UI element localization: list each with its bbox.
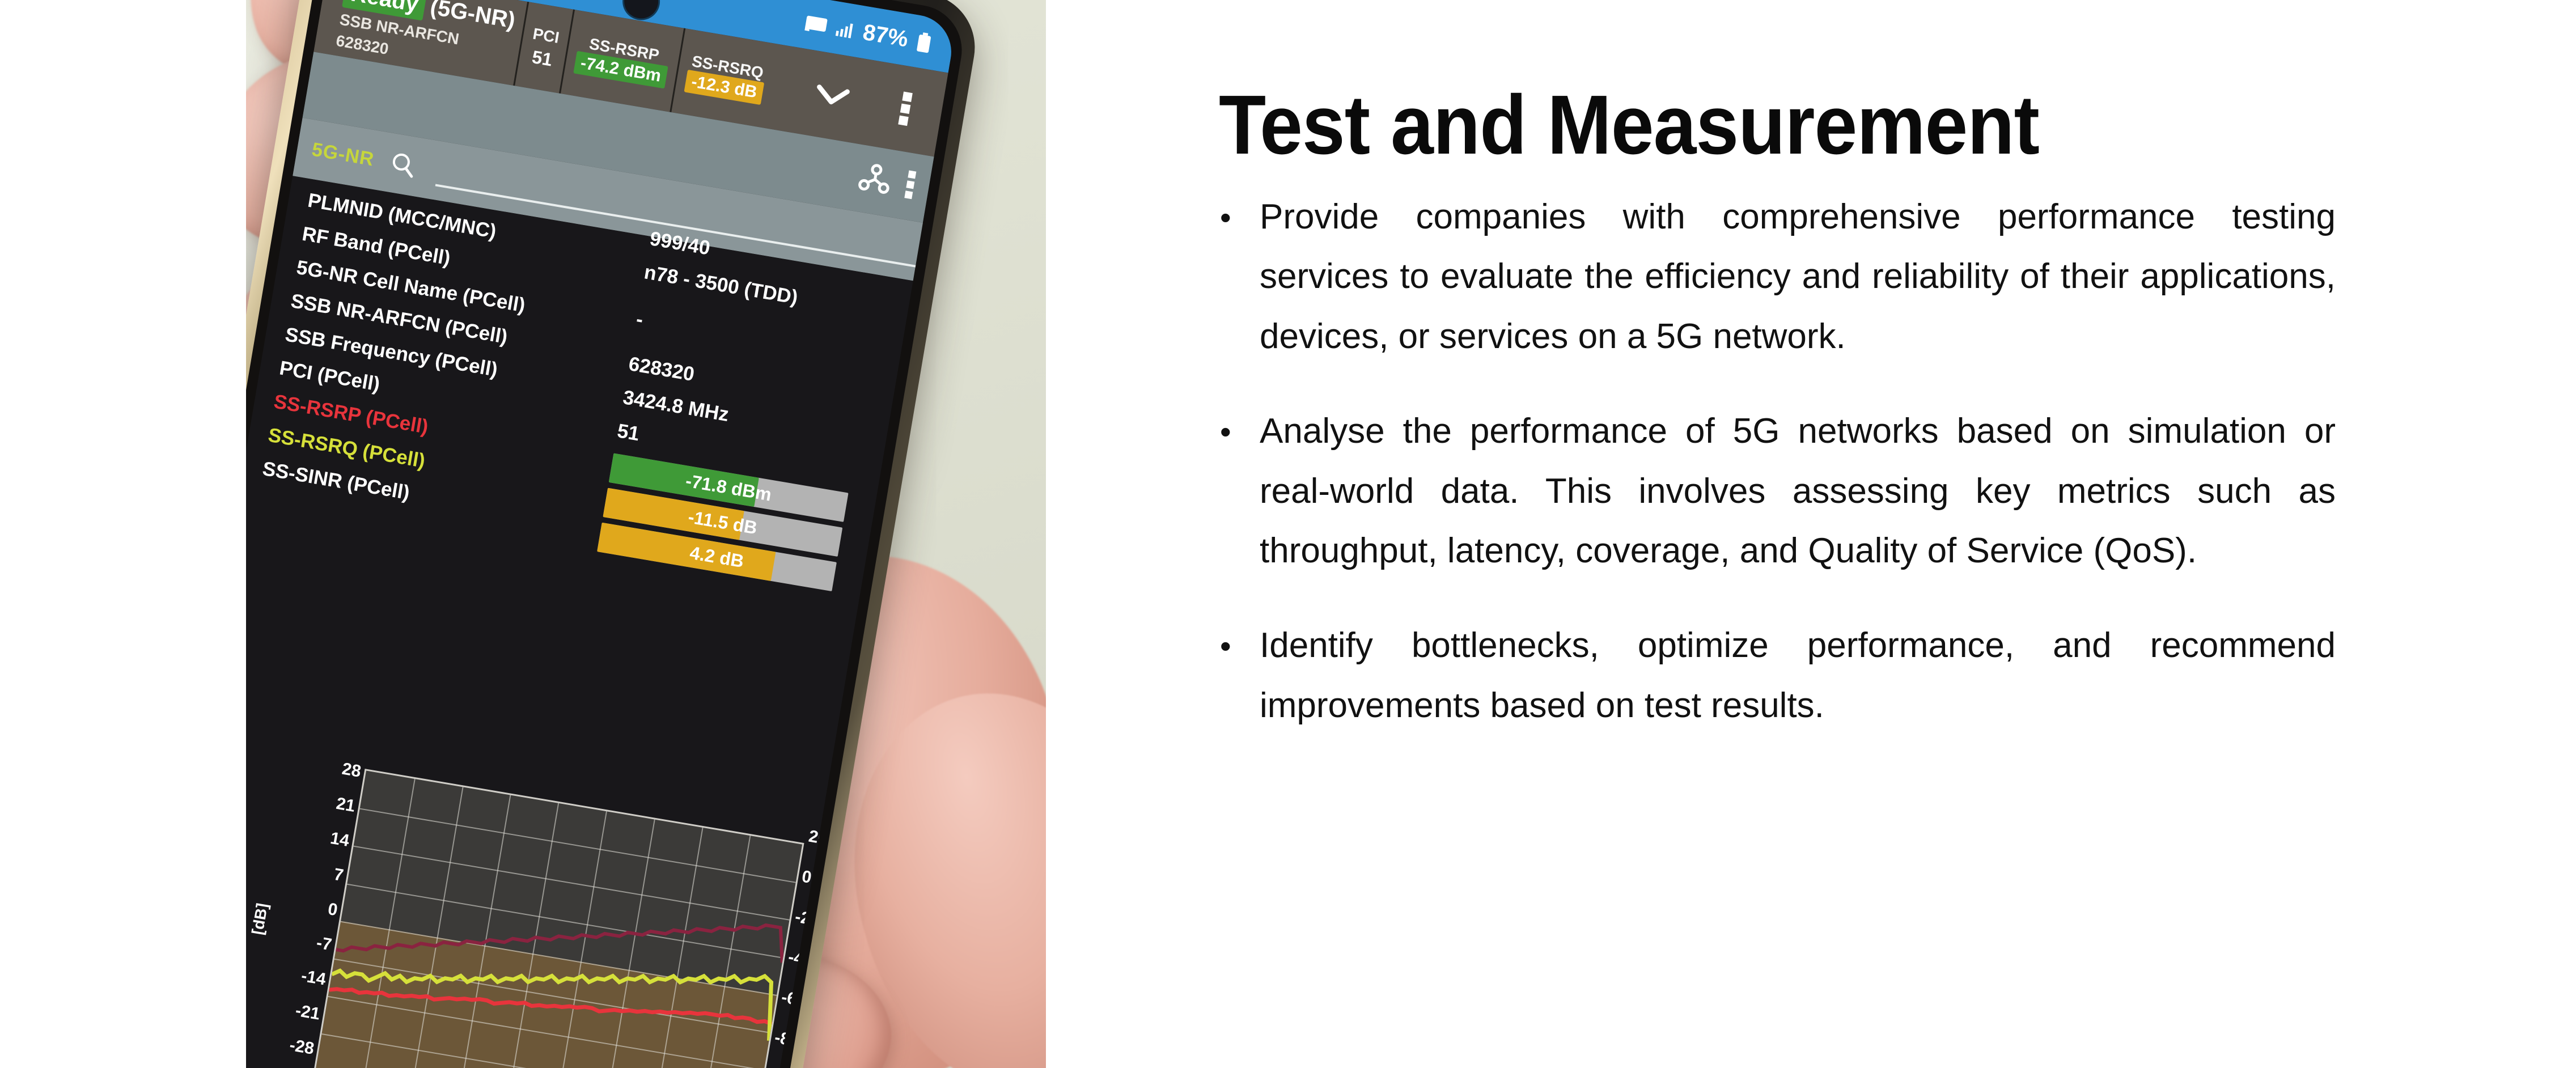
slide-root: 10:33 87%	[0, 0, 2576, 1068]
status-bar-icons: 87%	[803, 10, 934, 56]
chart-ytick: -21	[294, 1001, 321, 1024]
param-value-ssb-arfcn: 628320	[627, 353, 696, 386]
chart-ytick: -7	[315, 933, 333, 955]
param-value-ssb-freq: 3424.8 MHz	[621, 386, 731, 426]
list-item: • Analyse the performance of 5G networks…	[1213, 401, 2336, 580]
chart-ytick: 28	[341, 760, 363, 782]
chart-ytick: 7	[332, 865, 345, 885]
param-value-rf-band: n78 - 3500 (TDD)	[642, 261, 799, 309]
share-button[interactable]	[855, 160, 895, 202]
param-value-cell-name: -	[634, 308, 645, 331]
chart-ytick: -35	[283, 1065, 310, 1068]
more-vertical-icon	[897, 90, 914, 128]
chart-ytick: -28	[288, 1036, 315, 1059]
rsrq-cell: SS-RSRQ -12.3 dB	[671, 28, 779, 128]
cast-icon	[803, 13, 829, 36]
bullet-list: • Provide companies with comprehensive p…	[1213, 187, 2336, 770]
chart-ytick: 14	[329, 829, 351, 851]
chart-ytick: -14	[300, 967, 327, 990]
bullet-text: Identify bottlenecks, optimize performan…	[1260, 616, 2336, 735]
param-value-pci: 51	[616, 419, 641, 446]
camera-punch-hole	[622, 0, 661, 21]
chevron-down-icon	[812, 82, 852, 111]
toolbar-overflow-button[interactable]	[904, 170, 917, 204]
share-nodes-icon	[855, 160, 895, 199]
bullet-text: Analyse the performance of 5G networks b…	[1260, 401, 2336, 580]
chart-ytick: 0	[327, 900, 339, 920]
collapse-button[interactable]	[794, 79, 870, 114]
bullet-marker: •	[1213, 401, 1260, 580]
text-content-panel: Test and Measurement • Provide companies…	[1213, 0, 2477, 1068]
bullet-text: Provide companies with comprehensive per…	[1260, 187, 2336, 366]
bullet-marker: •	[1213, 616, 1260, 735]
battery-percent-label: 87%	[861, 20, 910, 53]
pci-value: 51	[531, 46, 554, 70]
bullet-marker: •	[1213, 187, 1260, 366]
page-title: Test and Measurement	[1219, 83, 2039, 167]
signal-bars-icon	[833, 18, 857, 41]
chart-left-axis-unit: [dB]	[248, 902, 272, 936]
list-item: • Provide companies with comprehensive p…	[1213, 187, 2336, 366]
measurement-chart	[311, 769, 804, 1068]
list-item: • Identify bottlenecks, optimize perform…	[1213, 616, 2336, 735]
chart-series-svg	[313, 771, 802, 1068]
battery-icon	[914, 31, 934, 54]
pci-label: PCI	[532, 24, 561, 46]
phone-photo-panel: 10:33 87%	[246, 0, 1046, 1068]
tab-5g-nr[interactable]: 5G-NR	[310, 138, 376, 171]
param-label-pci: PCI (PCell)	[278, 357, 382, 396]
search-icon[interactable]	[387, 149, 418, 180]
appbar-overflow-button[interactable]	[867, 85, 944, 133]
more-vertical-icon	[904, 170, 916, 201]
chart-ytick: 21	[334, 794, 357, 816]
